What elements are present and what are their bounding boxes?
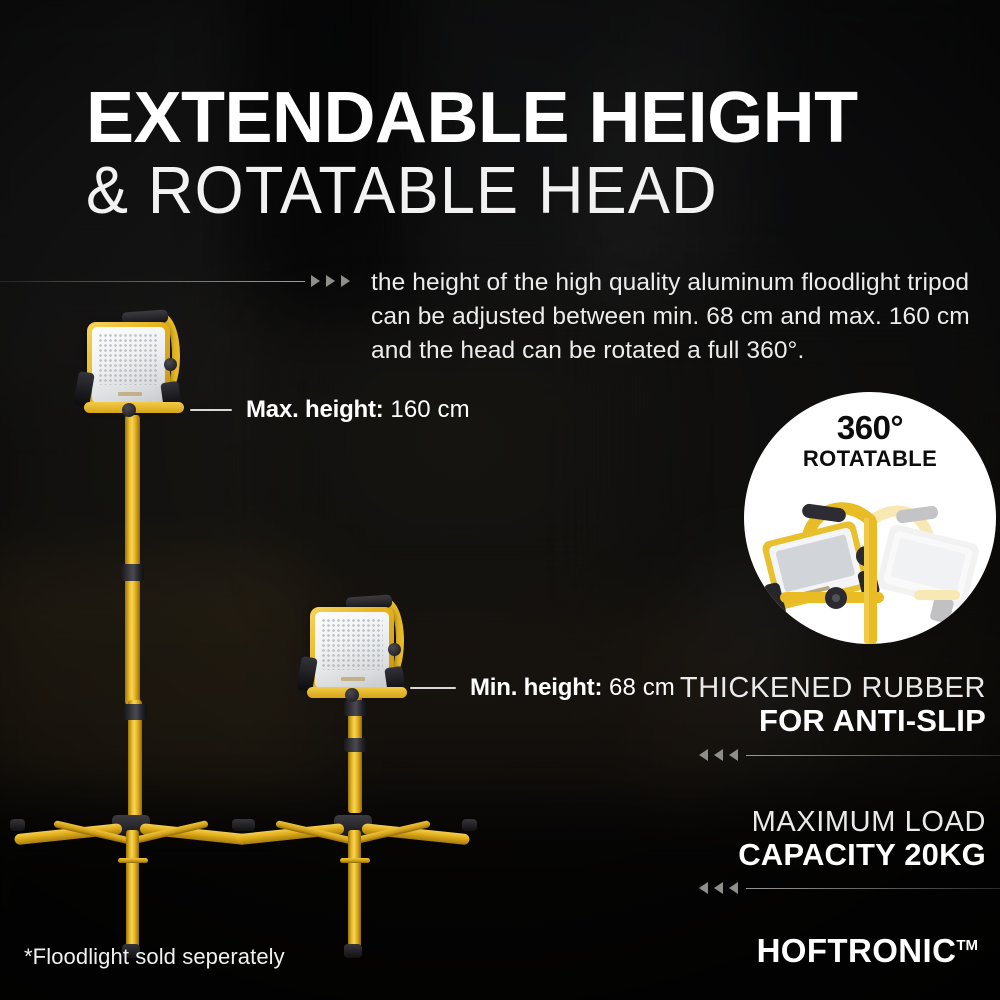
triangle-left-icon <box>714 882 723 894</box>
headline-block: EXTENDABLE HEIGHT & ROTATABLE HEAD <box>86 84 966 221</box>
arrow-left-marker-group <box>699 749 738 761</box>
floodlight-head <box>70 310 200 418</box>
feature-max-load-line1: MAXIMUM LOAD <box>566 806 986 838</box>
triangle-right-icon <box>326 275 335 287</box>
triangle-left-icon <box>699 749 708 761</box>
callout-max-height: Max. height: 160 cm <box>190 396 470 424</box>
floodlight-head <box>292 595 424 703</box>
feature-anti-slip: THICKENED RUBBER FOR ANTI-SLIP <box>566 672 986 739</box>
product-feature-banner: EXTENDABLE HEIGHT & ROTATABLE HEAD the h… <box>0 0 1000 1000</box>
callout-max-label: Max. height: <box>246 396 384 423</box>
badge-degrees: 360° <box>744 409 996 447</box>
description-paragraph: the height of the high quality aluminum … <box>371 266 991 367</box>
triangle-right-icon <box>311 275 320 287</box>
rotatable-badge: 360° ROTATABLE <box>744 392 996 644</box>
tripod-floodlight-min-height <box>230 600 510 1000</box>
feature-max-load: MAXIMUM LOAD CAPACITY 20KG <box>566 806 986 873</box>
triangle-left-icon <box>699 882 708 894</box>
triangle-left-icon <box>729 749 738 761</box>
feature-divider-line <box>746 755 1000 756</box>
feature-anti-slip-line2: FOR ANTI-SLIP <box>566 704 986 739</box>
brand-name: HOFTRONIC <box>757 932 957 969</box>
feature-divider-line <box>746 888 1000 889</box>
callout-max-value: 160 cm <box>390 396 469 423</box>
arrow-left-marker-group <box>699 882 738 894</box>
triangle-right-icon <box>341 275 350 287</box>
trademark-symbol: TM <box>956 937 978 954</box>
triangle-left-icon <box>714 749 723 761</box>
leader-line <box>190 409 232 411</box>
rotating-head-illustration <box>744 464 996 644</box>
disclaimer-text: *Floodlight sold seperately <box>24 944 285 970</box>
feature-anti-slip-line1: THICKENED RUBBER <box>566 672 986 704</box>
headline-primary: EXTENDABLE HEIGHT <box>86 84 966 153</box>
leader-line <box>410 687 456 689</box>
feature-max-load-line2: CAPACITY 20KG <box>566 838 986 873</box>
brand-logo: HOFTRONICTM <box>757 932 978 970</box>
headline-secondary: & ROTATABLE HEAD <box>86 157 966 225</box>
triangle-left-icon <box>729 882 738 894</box>
arrow-right-marker-group <box>311 275 350 287</box>
top-divider-line <box>0 281 305 282</box>
